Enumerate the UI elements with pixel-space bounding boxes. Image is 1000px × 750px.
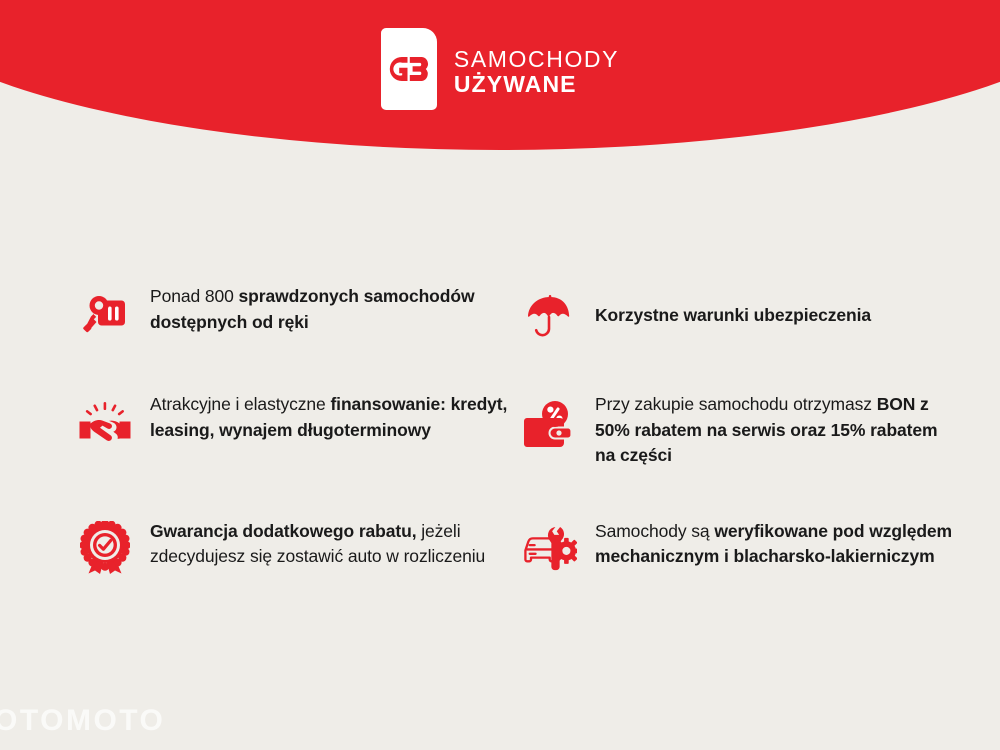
brand-title-line-2: UŻYWANE [454,71,619,97]
brand-title-line-1: SAMOCHODY [454,47,619,71]
benefit-item-trade-in-discount: Gwarancja dodatkowego rabatu, jeżeli zde… [78,517,523,575]
benefit-text: Ponad 800 sprawdzonych samochodów dostęp… [150,282,510,335]
benefit-emphasis: Korzystne warunki ubezpieczenia [595,305,871,325]
brand-wordmark: SAMOCHODY UŻYWANE [454,28,619,97]
benefit-item-insurance: Korzystne warunki ubezpieczenia [523,282,958,342]
header-banner: SAMOCHODY UŻYWANE [0,0,1000,150]
benefit-item-financing: Atrakcyjne i elastyczne finansowanie: kr… [78,390,523,469]
benefit-text: Korzystne warunki ubezpieczenia [595,301,871,329]
car-wrench-gear-icon [523,521,577,575]
benefit-item-service-voucher: Przy zakupie samochodu otrzymasz BON z 5… [523,390,958,469]
award-rosette-icon [78,521,132,575]
benefit-lead: Samochody są [595,521,714,541]
umbrella-icon [523,288,577,342]
benefit-text: Samochody są weryfikowane pod względem m… [595,517,955,570]
benefit-text: Atrakcyjne i elastyczne finansowanie: kr… [150,390,510,443]
benefit-lead: Atrakcyjne i elastyczne [150,394,330,414]
gb-monogram-icon [381,28,437,110]
car-key-tag-icon [78,288,132,342]
benefit-lead: Ponad 800 [150,286,239,306]
benefit-emphasis: Gwarancja dodatkowego rabatu, [150,521,416,541]
benefit-lead: Przy zakupie samochodu otrzymasz [595,394,877,414]
benefit-text: Gwarancja dodatkowego rabatu, jeżeli zde… [150,517,510,570]
brand-lockup: SAMOCHODY UŻYWANE [0,0,1000,150]
wallet-percent-icon [523,398,577,452]
benefit-text: Przy zakupie samochodu otrzymasz BON z 5… [595,390,955,469]
otomoto-watermark: OTOMOTO [0,704,165,738]
benefit-item-inspection: Samochody są weryfikowane pod względem m… [523,517,958,575]
benefit-item-available-cars: Ponad 800 sprawdzonych samochodów dostęp… [78,282,523,342]
benefits-grid: Ponad 800 sprawdzonych samochodów dostęp… [78,282,958,575]
handshake-icon [78,398,132,452]
